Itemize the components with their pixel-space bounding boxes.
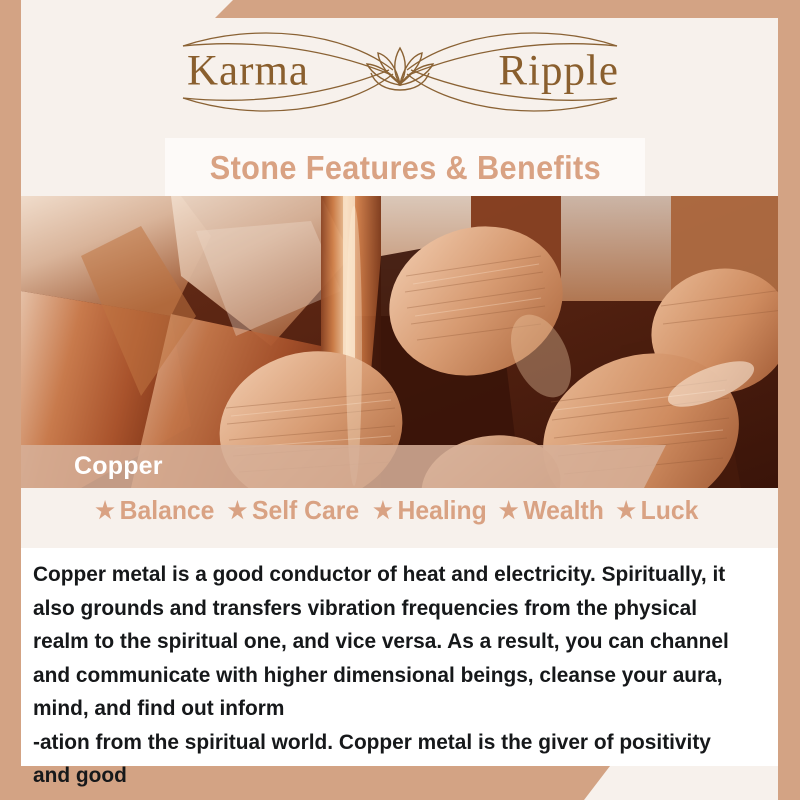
benefit-label: Wealth — [524, 495, 605, 526]
star-icon: ★ — [228, 497, 248, 524]
benefit-item: ★ Luck — [616, 495, 705, 526]
frame-right-border — [778, 0, 800, 800]
photo-caption-band: Copper — [21, 445, 666, 488]
copper-bars-photo: Copper — [21, 196, 778, 488]
benefit-label: Self Care — [252, 495, 359, 526]
benefit-item: ★ Wealth — [499, 495, 611, 526]
star-icon: ★ — [95, 497, 115, 524]
frame-top-border — [215, 0, 800, 18]
section-title-banner: Stone Features & Benefits — [165, 138, 645, 198]
star-icon: ★ — [373, 497, 393, 524]
benefits-list: ★ Balance ★ Self Care ★ Healing ★ Wealth… — [21, 495, 778, 526]
brand-logo: Karma Ripple — [0, 26, 800, 118]
photo-caption: Copper — [74, 452, 163, 481]
benefit-item: ★ Balance — [95, 495, 221, 526]
star-icon: ★ — [499, 497, 519, 524]
photo-artwork — [21, 196, 778, 488]
frame-left-border — [0, 0, 21, 800]
star-icon: ★ — [616, 497, 636, 524]
benefit-item: ★ Self Care — [228, 495, 366, 526]
page-title: Stone Features & Benefits — [209, 149, 600, 187]
benefit-label: Luck — [640, 495, 698, 526]
product-info-card: Karma Ripple Stone Features & Benefits — [0, 0, 800, 800]
benefit-label: Balance — [120, 495, 215, 526]
benefit-item: ★ Healing — [373, 495, 493, 526]
description-text: Copper metal is a good conductor of heat… — [33, 558, 751, 800]
benefit-label: Healing — [397, 495, 486, 526]
brand-name-left: Karma — [187, 47, 309, 96]
description-panel: Copper metal is a good conductor of heat… — [21, 548, 778, 766]
brand-name-right: Ripple — [498, 47, 619, 96]
